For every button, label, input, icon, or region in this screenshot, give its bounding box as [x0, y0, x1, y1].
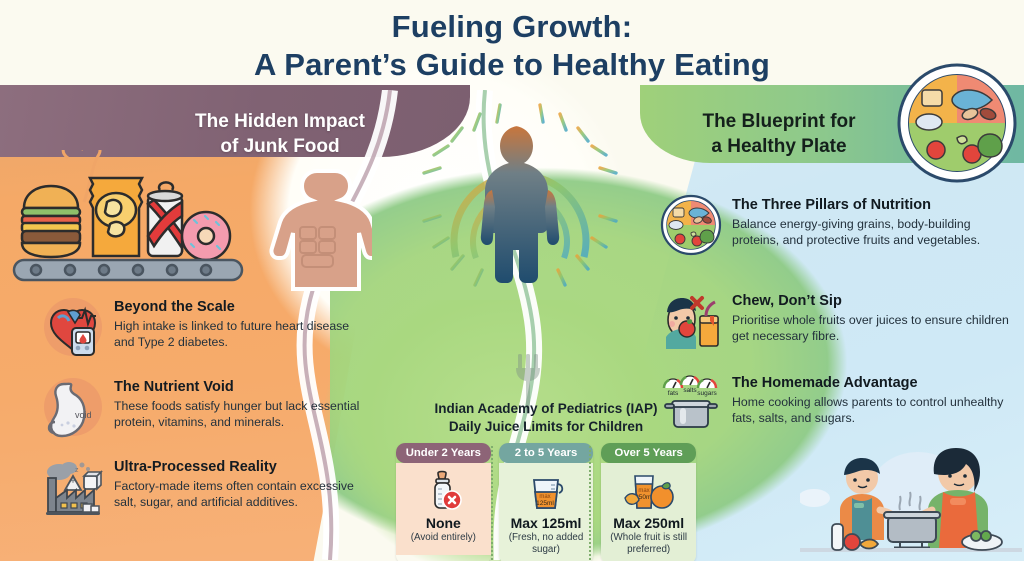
- iap-title-line-1: Indian Academy of Pediatrics (IAP): [396, 400, 696, 418]
- iap-column-under-2: Under 2 Years: [396, 443, 491, 561]
- left-section-heading: The Hidden Impact of Junk Food: [150, 110, 410, 159]
- iap-title-line-2: Daily Juice Limits for Children: [396, 418, 696, 436]
- gauge-label-salts: salts: [683, 387, 697, 394]
- iap-age-label: Over 5 Years: [601, 443, 696, 463]
- baby-bottle-prohibited-icon: [400, 469, 487, 513]
- heart-glucometer-icon: [42, 296, 104, 358]
- list-item: The Three Pillars of Nutrition Balance e…: [660, 194, 1020, 256]
- right-heading-line-1: The Blueprint for: [664, 110, 894, 135]
- balanced-plate-icon: [660, 194, 722, 256]
- svg-text:z: z: [75, 467, 79, 474]
- item-heading: The Nutrient Void: [114, 378, 362, 396]
- title-line-2: A Parent’s Guide to Healthy Eating: [0, 46, 1024, 84]
- iap-limit-value: None: [400, 515, 487, 531]
- parent-and-child-cooking-icon: [800, 448, 1022, 560]
- item-body: Factory-made items often contain excessi…: [114, 478, 362, 511]
- iap-column-2-to-5: 2 to 5 Years max: [499, 443, 594, 561]
- item-body: These foods satisfy hunger but lack esse…: [114, 398, 362, 431]
- svg-text:125ml: 125ml: [536, 500, 554, 507]
- svg-text:+: +: [70, 476, 75, 486]
- left-heading-line-2: of Junk Food: [150, 135, 410, 160]
- stomach-void-icon: void: [42, 376, 104, 438]
- iap-column-body: max 125ml Max 125ml (Fresh, no added sug…: [499, 463, 594, 561]
- list-item: Beyond the Scale High intake is linked t…: [42, 296, 362, 358]
- iap-column-over-5: Over 5 Years max 250ml: [601, 443, 696, 561]
- iap-limit-value: Max 125ml: [503, 515, 590, 531]
- right-heading-line-2: a Healthy Plate: [664, 135, 894, 160]
- child-body-silhouette-icon: [262, 165, 372, 295]
- item-heading: Ultra-Processed Reality: [114, 458, 362, 476]
- item-body: Prioritise whole fruits over juices to e…: [732, 312, 1020, 345]
- measuring-cup-125ml-icon: max 125ml: [503, 469, 590, 513]
- iap-column-body: None (Avoid entirely): [396, 463, 491, 555]
- iap-limit-note: (Avoid entirely): [400, 532, 487, 544]
- infographic-canvas: Fueling Growth: A Parent’s Guide to Heal…: [0, 0, 1024, 561]
- list-item: Chew, Don’t Sip Prioritise whole fruits …: [660, 290, 1020, 352]
- iap-limit-note: (Whole fruit is still preferred): [605, 532, 692, 556]
- item-body: High intake is linked to future heart di…: [114, 318, 362, 351]
- iap-columns: Under 2 Years: [396, 443, 696, 561]
- svg-text:void: void: [75, 410, 92, 420]
- iap-column-body: max 250ml Max 250ml (Whole fruit is stil…: [601, 463, 696, 561]
- gauge-label-fats: fats: [668, 390, 679, 397]
- item-body: Balance energy-giving grains, body-build…: [732, 216, 1020, 249]
- column-divider: [589, 446, 591, 560]
- column-divider: [491, 446, 493, 560]
- item-heading: Chew, Don’t Sip: [732, 292, 1020, 310]
- iap-juice-limits-table: Indian Academy of Pediatrics (IAP) Daily…: [396, 400, 696, 561]
- list-item: fats salts sugars The Homemade Advantage…: [660, 372, 1020, 434]
- gauge-label-sugars: sugars: [697, 390, 717, 397]
- factory-sugar-icon: z +: [42, 456, 104, 518]
- iap-age-label: Under 2 Years: [396, 443, 491, 463]
- iap-limit-value: Max 250ml: [605, 515, 692, 531]
- radiant-child-silhouette-icon: [418, 92, 622, 310]
- list-item: z + Ultra-Processed Reality: [42, 456, 362, 518]
- burger-chips-soda-donut-on-conveyor-icon: [8, 150, 248, 285]
- left-heading-line-1: The Hidden Impact: [150, 110, 410, 135]
- iap-limit-note: (Fresh, no added sugar): [503, 532, 590, 556]
- iap-age-label: 2 to 5 Years: [499, 443, 594, 463]
- item-heading: The Three Pillars of Nutrition: [732, 196, 1020, 214]
- list-item: void The Nutrient Void These foods satis…: [42, 376, 362, 438]
- item-heading: The Homemade Advantage: [732, 374, 1020, 392]
- item-body: Home cooking allows parents to control u…: [732, 394, 1020, 427]
- right-section-heading: The Blueprint for a Healthy Plate: [664, 110, 894, 159]
- iap-table-title: Indian Academy of Pediatrics (IAP) Daily…: [396, 400, 696, 435]
- juice-glass-250ml-orange-icon: max 250ml: [605, 469, 692, 513]
- title-line-1: Fueling Growth:: [0, 8, 1024, 46]
- item-heading: Beyond the Scale: [114, 298, 362, 316]
- child-eating-apple-no-juice-icon: [660, 290, 722, 352]
- page-title: Fueling Growth: A Parent’s Guide to Heal…: [0, 8, 1024, 84]
